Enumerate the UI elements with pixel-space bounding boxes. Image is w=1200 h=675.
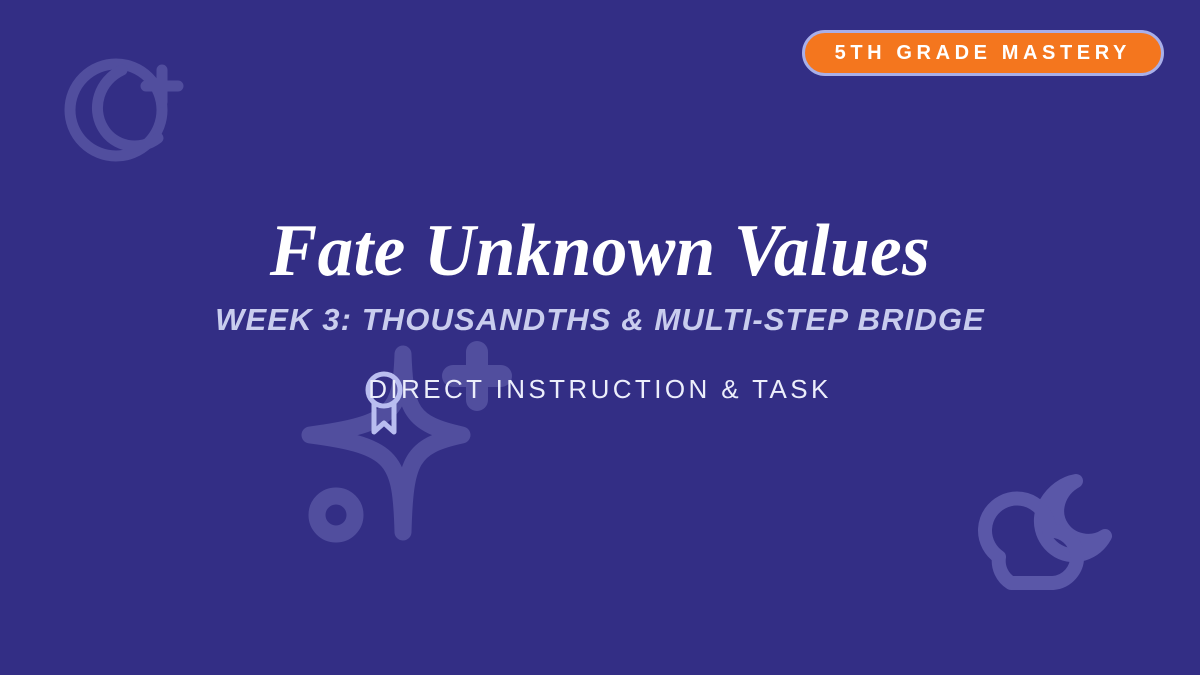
page-title: Fate Unknown Values bbox=[24, 214, 1176, 289]
moon-plus-icon bbox=[58, 44, 188, 174]
slide-canvas: 5TH GRADE MASTERY Fate Unknown Values WE… bbox=[0, 0, 1200, 675]
grade-mastery-badge[interactable]: 5TH GRADE MASTERY bbox=[802, 30, 1164, 76]
badge-label: 5TH GRADE MASTERY bbox=[835, 43, 1131, 63]
donut-circle-icon bbox=[317, 496, 355, 534]
cloud-moon-icon bbox=[963, 443, 1163, 628]
page-tertiary-line: DIRECT INSTRUCTION & TASK bbox=[0, 375, 1200, 404]
page-subtitle: WEEK 3: THOUSANDTHS & MULTI-STEP BRIDGE bbox=[0, 303, 1200, 337]
title-block: Fate Unknown Values WEEK 3: THOUSANDTHS … bbox=[0, 214, 1200, 403]
